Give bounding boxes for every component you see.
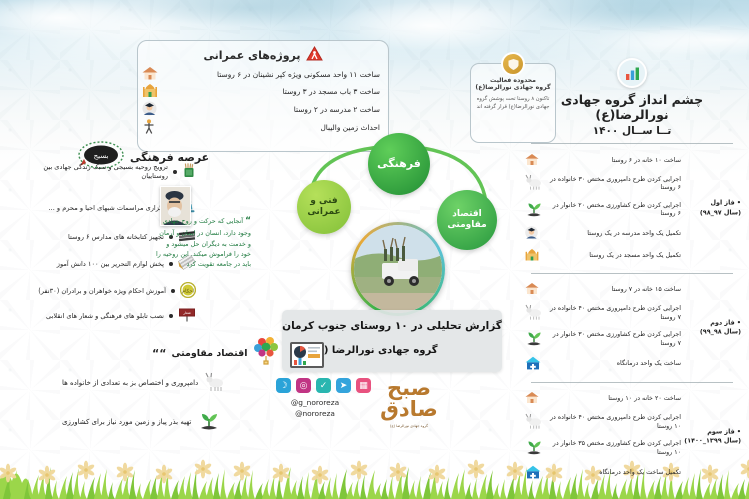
- vision-row-label: تکمیل ساخت یک واحد درمانگاه: [546, 469, 681, 478]
- bullet-dot: [173, 170, 177, 174]
- vision-row-label: ساخت ۱۵ خانه در ۷ روستا: [544, 286, 681, 295]
- vision-row-label: تکمیل یک واحد مسجد در یک روستا: [544, 252, 681, 261]
- road-work-icon: [306, 46, 323, 65]
- eitaa-icon[interactable]: ✓: [316, 378, 331, 393]
- vision-row: اجرایی کردن طرح دامپروری مختص ۴۰ خانواده…: [523, 301, 683, 327]
- vision-phase: • فاز دوم(سال ۹۸_۹۹)ساخت ۱۵ خانه در ۷ رو…: [523, 280, 741, 376]
- vision-row-label: ساخت یک واحد درمانگاه: [546, 360, 681, 369]
- house-icon: [525, 391, 539, 408]
- goat-icon: [525, 174, 544, 195]
- report-title: گزارش تحلیلی در ۱۰ روستای جنوب کرمان: [282, 310, 502, 332]
- village-photo: [351, 222, 445, 316]
- bubble-civil-label-line2: عمرانی: [307, 207, 340, 217]
- vision-row-label: اجرایی کردن طرح دامپروری مختص ۴۰ خانواده…: [549, 414, 681, 431]
- civil-projects-title: پروژه‌های عمرانی: [203, 49, 300, 62]
- sprout-icon: [525, 329, 543, 351]
- vision-phase-rows: ساخت ۱۰ خانه در ۶ روستااجرایی کردن طرح د…: [523, 150, 683, 267]
- student-icon: [142, 101, 157, 118]
- banner-icon: شعار: [178, 307, 196, 325]
- vision-title: چشم انداز گروه جهادی نورالرضا(ع): [523, 92, 741, 122]
- house-icon: [525, 153, 539, 170]
- bullet-dot: [171, 289, 175, 293]
- sprout-icon: [525, 200, 543, 222]
- main-title-plaque: گزارش تحلیلی در ۱۰ روستای جنوب کرمان گرو…: [282, 310, 502, 372]
- vision-row-label: اجرایی کردن طرح کشاورزی مختص ۳۵ خانوار د…: [548, 440, 681, 457]
- culture-title: عرصه فرهنگی: [130, 151, 209, 164]
- bar-chart-icon: [617, 58, 647, 88]
- vision-row: اجرایی کردن طرح کشاورزی مختص ۲۰ خانوار د…: [523, 197, 683, 224]
- vision-phase-label: • فاز دوم(سال ۹۸_۹۹): [683, 318, 741, 337]
- goat-icon: [525, 413, 544, 434]
- vision-phase-label: • فاز اول(سال ۹۷_۹۸): [683, 199, 741, 218]
- clinic-icon: [525, 465, 541, 483]
- bubble-economy-label: اقتصاد مقاومتی: [447, 209, 486, 232]
- svg-text:احکام: احکام: [182, 288, 194, 294]
- vision-row-label: اجرایی کردن طرح کشاورزی مختص ۳۰ خانوار د…: [548, 331, 681, 348]
- economy-row: تهیه بذر پیاز و زمین مورد نیاز برای کشاو…: [62, 410, 220, 434]
- civil-row: ساخت ۳ باب مسجد در ۳ روستا: [138, 82, 388, 99]
- vision-phase-rows: ساخت ۱۵ خانه در ۷ روستااجرایی کردن طرح د…: [523, 280, 683, 376]
- civil-row: ساخت ۱۱ واحد مسکونی ویژه کپر نشینان در ۶…: [138, 65, 388, 82]
- bubble-economy[interactable]: اقتصاد مقاومتی: [437, 190, 497, 250]
- sprout-icon: [198, 410, 220, 434]
- goat-icon: [525, 304, 544, 325]
- civil-row-label: ساخت ۱۱ واحد مسکونی ویژه کپر نشینان در ۶…: [164, 70, 380, 79]
- civil-projects-card: پروژه‌های عمرانی ساخت ۱۱ واحد مسکونی ویژ…: [137, 40, 389, 152]
- circle-seal-icon: احکام: [180, 282, 196, 301]
- vision-row: ساخت ۱۰ خانه در ۶ روستا: [523, 150, 683, 172]
- volleyball-icon: [142, 119, 156, 136]
- vision-divider: [531, 382, 733, 383]
- vision-row-label: تکمیل یک واحد مدرسه در یک روستا: [543, 230, 681, 239]
- student-icon: [525, 226, 538, 243]
- vision-phase-years: (سال ۹۷_۹۸): [683, 208, 741, 217]
- vision-row: اجرایی کردن طرح کشاورزی مختص ۳۵ خانوار د…: [523, 436, 683, 463]
- culture-row-label: ترویج روحیه بسیجی و سبک زندگی جهادی بین …: [28, 163, 168, 181]
- goat-icon: [205, 372, 227, 394]
- vision-phase: • فاز اول(سال ۹۷_۹۸)ساخت ۱۰ خانه در ۶ رو…: [523, 150, 741, 267]
- economy-row-label: دامپروری و اختصاص بز به تعدادی از خانواد…: [62, 379, 198, 387]
- culture-row: شعارنصب تابلو های فرهنگی و شعار های انقل…: [4, 307, 196, 325]
- soroush-icon[interactable]: ☽: [276, 378, 291, 393]
- bale-icon[interactable]: ▦: [356, 378, 371, 393]
- civil-row: ساخت ۲ مدرسه در ۲ روستا: [138, 100, 388, 118]
- culture-row-label: تجهیز کتابخانه های مدارس ۶ روستا: [68, 233, 164, 242]
- house-icon: [142, 66, 158, 82]
- culture-row: ترویج روحیه بسیجی و سبک زندگی جهادی بین …: [28, 163, 196, 181]
- civil-row-label: ساخت ۲ مدرسه در ۲ روستا: [163, 105, 380, 114]
- vision-row: تکمیل یک واحد مدرسه در یک روستا: [523, 224, 683, 246]
- culture-row: احکامآموزش احکام ویژه خواهران و برادران …: [6, 282, 196, 301]
- quote-mark: ““: [152, 347, 166, 360]
- bubble-civil-label-line1: فنی و: [310, 196, 337, 206]
- economy-header: اقتصاد مقاومتی ““: [152, 336, 279, 370]
- civil-row: احداث زمین والیبال: [138, 118, 388, 136]
- culture-row-label: آموزش احکام ویژه خواهران و برادران (۳۰نف…: [38, 287, 166, 296]
- economy-title: اقتصاد مقاومتی: [171, 348, 247, 359]
- civil-row-label: احداث زمین والیبال: [162, 123, 380, 132]
- quran-stand-icon: [182, 163, 196, 181]
- vision-row: ساخت یک واحد درمانگاه: [523, 353, 683, 376]
- vision-phase-name: • فاز اول: [683, 199, 741, 208]
- sprout-icon: [525, 438, 543, 460]
- social-icon-row: ▦➤✓◎☽: [276, 378, 371, 393]
- balloon-bulb-icon: [253, 336, 279, 370]
- house-icon: [525, 282, 539, 299]
- vision-phase-label: • فاز سوم(سال ۱۳۹۹_۱۴۰۰): [683, 427, 741, 446]
- telegram-icon[interactable]: ➤: [336, 378, 351, 393]
- vision-row: تکمیل یک واحد مسجد در یک روستا: [523, 245, 683, 267]
- leader-quote-text: آنجایی که حرکت و روح جهادی وجود دارد، ان…: [156, 217, 251, 268]
- culture-row-label: نصب تابلو های فرهنگی و شعار های انقلابی: [46, 312, 164, 321]
- economy-row-label: تهیه بذر پیاز و زمین مورد نیاز برای کشاو…: [62, 418, 191, 426]
- social-handle-secondary: @nororeza: [276, 408, 354, 419]
- vision-row: ساخت ۱۵ خانه در ۷ روستا: [523, 280, 683, 302]
- vision-divider: [531, 273, 733, 274]
- vision-row: اجرایی کردن طرح کشاورزی مختص ۳۰ خانوار د…: [523, 327, 683, 354]
- infographic-poster: پروژه‌های عمرانی ساخت ۱۱ واحد مسکونی ویژ…: [0, 0, 749, 499]
- vision-phase-name: • فاز دوم: [683, 318, 741, 327]
- social-handles: @g_nororeza @nororeza: [276, 397, 354, 419]
- economy-row: دامپروری و اختصاص بز به تعدادی از خانواد…: [62, 372, 227, 394]
- quote-open-mark: “: [245, 216, 251, 226]
- vision-row: ساخت ۲۰ خانه در ۱۰ روستا: [523, 389, 683, 411]
- bubble-economy-label-line1: اقتصاد: [452, 209, 482, 219]
- vision-row-label: اجرایی کردن طرح دامپروری مختص ۳۰ خانواده…: [549, 176, 681, 193]
- vision-row: اجرایی کردن طرح دامپروری مختص ۳۰ خانواده…: [523, 172, 683, 198]
- clinic-icon: [525, 356, 541, 374]
- logo-mark: صبح صادق: [378, 372, 440, 420]
- vision-row: اجرایی کردن طرح دامپروری مختص ۴۰ خانواده…: [523, 410, 683, 436]
- civil-projects-header: پروژه‌های عمرانی: [138, 46, 388, 65]
- mosque-icon: [142, 83, 158, 99]
- culture-row-label: برگزاری مراسمات شبهای احیا و محرم و ...: [49, 204, 168, 213]
- vision-row-label: ساخت ۱۰ خانه در ۶ روستا: [544, 157, 681, 166]
- vision-phase-years: (سال ۹۸_۹۹): [683, 328, 741, 337]
- vision-row-label: اجرایی کردن طرح دامپروری مختص ۴۰ خانواده…: [549, 305, 681, 322]
- civil-row-label: ساخت ۳ باب مسجد در ۳ روستا: [164, 87, 380, 96]
- shield-badge-icon: [501, 52, 525, 76]
- vision-row-label: اجرایی کردن طرح کشاورزی مختص ۲۰ خانوار د…: [548, 202, 681, 219]
- social-handle-primary: @g_nororeza: [276, 397, 354, 408]
- vision-phase: • فاز سوم(سال ۱۳۹۹_۱۴۰۰)ساخت ۲۰ خانه در …: [523, 389, 741, 485]
- bubble-culture[interactable]: فرهنگی: [368, 133, 430, 195]
- vision-divider: [531, 143, 733, 144]
- vision-subtitle: تــا ســال ۱۴۰۰: [523, 125, 741, 137]
- svg-text:بسیج: بسیج: [94, 152, 109, 160]
- culture-row-label: پخش لوازم التحریر بین ۱۰۰ دانش آموز: [57, 260, 164, 269]
- mosque-icon: [525, 248, 539, 265]
- presentation-chart-icon: [290, 342, 324, 368]
- bubble-civil[interactable]: فنی و عمرانی: [297, 180, 351, 234]
- vision-phase-years: (سال ۱۳۹۹_۱۴۰۰): [683, 437, 741, 446]
- vision-row: تکمیل ساخت یک واحد درمانگاه: [523, 462, 683, 485]
- svg-text:شعار: شعار: [182, 311, 191, 315]
- vision-panel: چشم انداز گروه جهادی نورالرضا(ع) تــا سـ…: [523, 58, 741, 485]
- bubble-civil-label: فنی و عمرانی: [307, 196, 340, 219]
- vision-phase-rows: ساخت ۲۰ خانه در ۱۰ روستااجرایی کردن طرح …: [523, 389, 683, 485]
- vision-phase-name: • فاز سوم: [683, 427, 741, 436]
- vision-row-label: ساخت ۲۰ خانه در ۱۰ روستا: [544, 395, 681, 404]
- leader-quote: “ آنجایی که حرکت و روح جهادی وجود دارد، …: [155, 214, 251, 269]
- bubble-culture-label: فرهنگی: [377, 157, 421, 171]
- bullet-dot: [169, 314, 173, 318]
- instagram-icon[interactable]: ◎: [296, 378, 311, 393]
- sobh-sadegh-logo: صبح صادق گروه جهادی نورالرضا (ع): [378, 372, 440, 428]
- bubble-economy-label-line2: مقاومتی: [447, 220, 486, 230]
- logo-caption: گروه جهادی نورالرضا (ع): [378, 424, 440, 428]
- vision-phase-list: • فاز اول(سال ۹۷_۹۸)ساخت ۱۰ خانه در ۶ رو…: [523, 150, 741, 485]
